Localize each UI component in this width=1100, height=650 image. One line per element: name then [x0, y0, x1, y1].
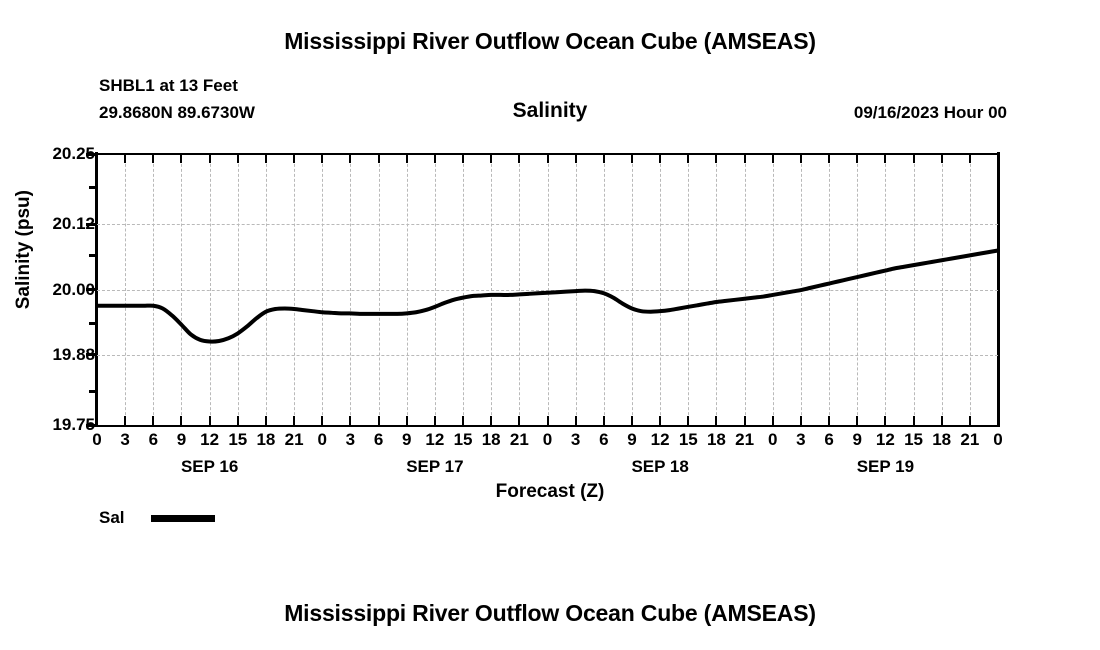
x-tick-label: 6: [149, 430, 158, 450]
x-tick-label: 15: [454, 430, 473, 450]
x-axis-title: Forecast (Z): [0, 481, 1100, 503]
y-tick-minor: [89, 254, 97, 257]
x-tick-label: 15: [904, 430, 923, 450]
x-tick-label: 12: [651, 430, 670, 450]
x-tick-label: 6: [599, 430, 608, 450]
y-tick-minor: [89, 322, 97, 325]
y-tick-label: 20.25: [52, 144, 95, 164]
x-tick-label: 15: [679, 430, 698, 450]
x-tick-label: 9: [177, 430, 186, 450]
x-tick-label: 18: [932, 430, 951, 450]
page-title-top: Mississippi River Outflow Ocean Cube (AM…: [0, 28, 1100, 55]
y-tick-label: 19.88: [52, 345, 95, 365]
x-tick-label: 18: [482, 430, 501, 450]
x-tick-label: 0: [768, 430, 777, 450]
x-tick-label: 0: [92, 430, 101, 450]
x-tick-label: 18: [707, 430, 726, 450]
x-tick-label: 21: [285, 430, 304, 450]
legend-label: Sal: [99, 508, 151, 528]
x-tick-label: 9: [402, 430, 411, 450]
plot-area: 19.7519.8820.0020.1220.25: [97, 154, 998, 425]
x-tick-label: 9: [852, 430, 861, 450]
x-tick-label: 3: [796, 430, 805, 450]
axis-bottom: [95, 425, 999, 427]
series-layer: [97, 154, 998, 425]
chart-page: Mississippi River Outflow Ocean Cube (AM…: [0, 0, 1100, 650]
x-tick-label: 6: [374, 430, 383, 450]
x-tick-label: 12: [876, 430, 895, 450]
x-tick-label: 18: [256, 430, 275, 450]
x-tick-label: 21: [735, 430, 754, 450]
x-tick-label: 6: [824, 430, 833, 450]
x-tick-label: 3: [120, 430, 129, 450]
x-tick-label: 0: [543, 430, 552, 450]
x-tick-label: 15: [228, 430, 247, 450]
y-axis-title: Salinity (psu): [13, 190, 43, 309]
y-tick-label: 20.12: [52, 214, 95, 234]
y-tick-minor: [89, 186, 97, 189]
x-tick-label: 12: [425, 430, 444, 450]
legend-swatch-sal: [151, 515, 215, 522]
x-day-label: SEP 18: [631, 457, 688, 477]
run-time-label: 09/16/2023 Hour 00: [854, 103, 1007, 123]
x-tick-label: 12: [200, 430, 219, 450]
x-day-label: SEP 16: [181, 457, 238, 477]
station-label: SHBL1 at 13 Feet: [99, 76, 238, 96]
series-line-sal: [97, 250, 998, 341]
x-tick-label: 3: [571, 430, 580, 450]
x-tick-label: 21: [510, 430, 529, 450]
x-tick-label: 0: [993, 430, 1002, 450]
x-tick-label: 3: [346, 430, 355, 450]
x-tick-label: 9: [627, 430, 636, 450]
page-title-bottom: Mississippi River Outflow Ocean Cube (AM…: [0, 600, 1100, 627]
y-tick-minor: [89, 390, 97, 393]
x-tick-label: 21: [960, 430, 979, 450]
x-day-label: SEP 19: [857, 457, 914, 477]
x-tick-label: 0: [318, 430, 327, 450]
x-day-label: SEP 17: [406, 457, 463, 477]
legend: Sal: [99, 508, 215, 528]
y-tick-label: 19.75: [52, 415, 95, 435]
y-tick-label: 20.00: [52, 280, 95, 300]
